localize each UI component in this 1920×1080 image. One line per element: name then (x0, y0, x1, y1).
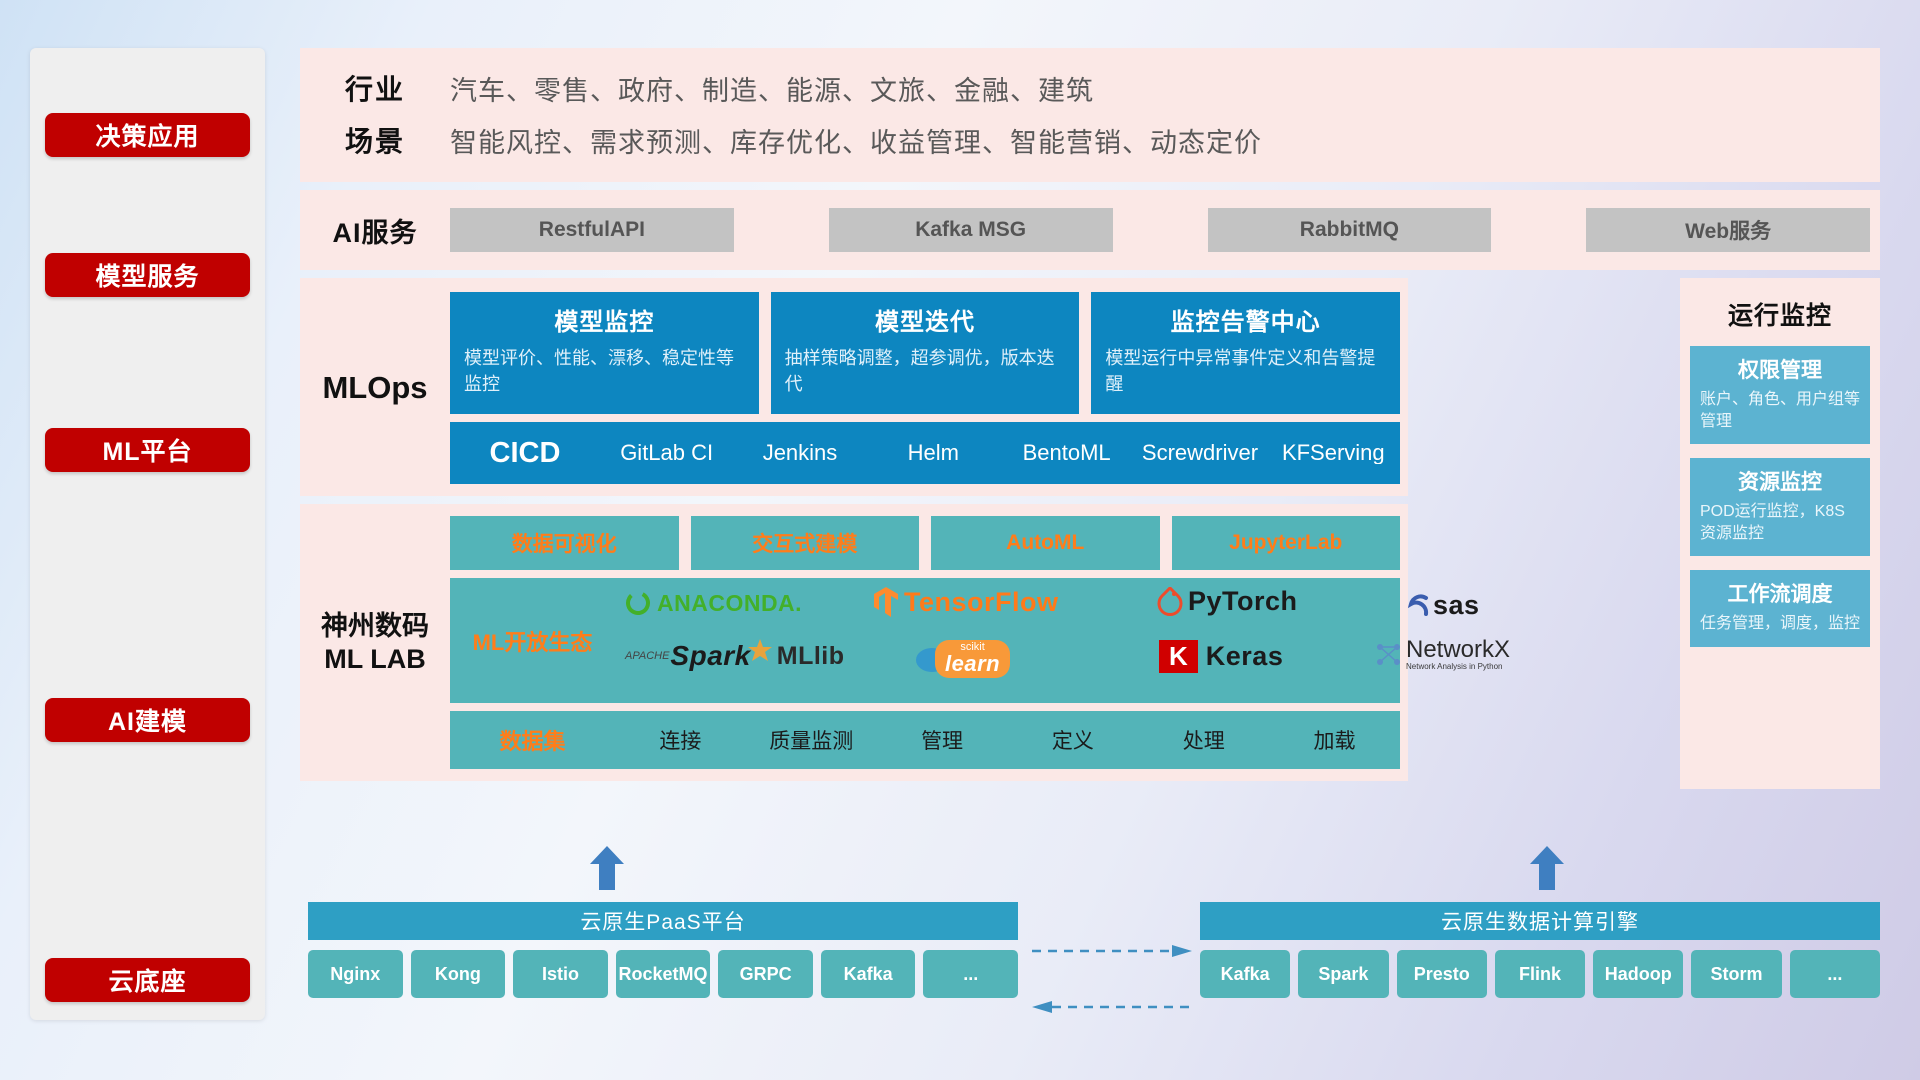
cicd-item-screwdriver[interactable]: Screwdriver (1133, 442, 1266, 464)
mlops-card-model-monitoring[interactable]: 模型监控 模型评价、性能、漂移、稳定性等监控 (450, 292, 759, 414)
dataset-item-connect[interactable]: 连接 (615, 725, 746, 755)
engine-chip-kafka[interactable]: Kafka (1200, 950, 1290, 998)
rail-item-label: ML平台 (102, 432, 192, 468)
monitor-card-permission[interactable]: 权限管理 账户、角色、用户组等管理 (1690, 346, 1870, 444)
cicd-title: CICD (450, 437, 600, 470)
industry-label: 行业 (300, 68, 450, 108)
cloud-chip-nginx[interactable]: Nginx (308, 950, 403, 998)
cicd-item-bentoml[interactable]: BentoML (1000, 442, 1133, 464)
ml-lab-label-line2: ML LAB (324, 643, 426, 675)
ml-lab-tab-list: 数据可视化 交互式建模 AutoML JupyterLab (450, 516, 1400, 570)
sas-logo: sas (1405, 590, 1480, 621)
scikit-learn-logo: scikit learn (915, 640, 1010, 678)
ai-service-chip-list: RestfulAPI Kafka MSG RabbitMQ Web服务 (450, 208, 1880, 252)
mlops-card-list: 模型监控 模型评价、性能、漂移、稳定性等监控 模型迭代 抽样策略调整，超参调优，… (450, 292, 1400, 414)
rail-item-ml-platform[interactable]: ML平台 (45, 428, 250, 472)
cloud-data-engine-title: 云原生数据计算引擎 (1200, 902, 1880, 940)
paas-to-engine-arrow-icon (1032, 944, 1192, 958)
scenario-row: 场景 智能风控、需求预测、库存优化、收益管理、智能营销、动态定价 (300, 114, 1880, 166)
ai-service-chip-web[interactable]: Web服务 (1586, 208, 1870, 252)
pytorch-logo: PyTorch (1157, 586, 1298, 617)
ml-lab-label: 神州数码 ML LAB (300, 516, 450, 769)
ml-lab-content: 数据可视化 交互式建模 AutoML JupyterLab ML开放生态 (450, 516, 1408, 769)
keras-logo: K Keras (1159, 640, 1283, 673)
tensorflow-logo-text: TensorFlow (904, 587, 1059, 618)
engine-chip-more[interactable]: ... (1790, 950, 1880, 998)
cloud-chip-grpc[interactable]: GRPC (718, 950, 813, 998)
card-title: 工作流调度 (1700, 578, 1860, 608)
networkx-graph-icon (1375, 641, 1403, 669)
card-desc: 模型评价、性能、漂移、稳定性等监控 (464, 345, 745, 397)
scikit-learn-badge: scikit learn (935, 640, 1010, 678)
dataset-item-define[interactable]: 定义 (1007, 725, 1138, 755)
cicd-item-jenkins[interactable]: Jenkins (733, 442, 866, 464)
spark-apache-tag: APACHE (625, 650, 669, 662)
cloud-chip-kafka[interactable]: Kafka (821, 950, 916, 998)
tab-jupyterlab[interactable]: JupyterLab (1172, 516, 1401, 570)
card-desc: POD运行监控，K8S资源监控 (1700, 501, 1860, 544)
scenario-label: 场景 (300, 120, 450, 160)
ai-service-chip-rabbitmq[interactable]: RabbitMQ (1208, 208, 1492, 252)
sas-swirl-icon (1405, 593, 1431, 619)
card-desc: 抽样策略调整，超参调优，版本迭代 (785, 345, 1066, 397)
runtime-monitor-column: 运行监控 权限管理 账户、角色、用户组等管理 资源监控 POD运行监控，K8S资… (1680, 278, 1880, 789)
networkx-logo: NetworkX Network Analysis in Python (1375, 638, 1510, 672)
industry-row: 行业 汽车、零售、政府、制造、能源、文旅、金融、建筑 (300, 62, 1880, 114)
ml-lab-band: 神州数码 ML LAB 数据可视化 交互式建模 AutoML JupyterLa… (300, 504, 1408, 781)
ml-ecosystem-logo-list: ANACONDA. TensorFlow (615, 578, 1400, 703)
mlops-content: 模型监控 模型评价、性能、漂移、稳定性等监控 模型迭代 抽样策略调整，超参调优，… (450, 292, 1408, 484)
ml-ecosystem-label: ML开放生态 (450, 625, 615, 657)
mlops-label: MLOps (300, 292, 450, 484)
card-desc: 账户、角色、用户组等管理 (1700, 389, 1860, 432)
dataset-row: 数据集 连接 质量监测 管理 定义 处理 加载 (450, 711, 1400, 769)
engine-chip-hadoop[interactable]: Hadoop (1593, 950, 1683, 998)
cloud-data-engine-chip-list: Kafka Spark Presto Flink Hadoop Storm ..… (1200, 940, 1880, 998)
cicd-item-helm[interactable]: Helm (867, 442, 1000, 464)
ai-service-chip-restfulapi[interactable]: RestfulAPI (450, 208, 734, 252)
pytorch-flame-icon (1157, 587, 1183, 617)
card-desc: 任务管理，调度，监控 (1700, 613, 1860, 635)
cloud-chip-more[interactable]: ... (923, 950, 1018, 998)
ai-service-band: AI服务 RestfulAPI Kafka MSG RabbitMQ Web服务 (300, 190, 1880, 270)
industry-values: 汽车、零售、政府、制造、能源、文旅、金融、建筑 (450, 69, 1094, 108)
dataset-item-list: 连接 质量监测 管理 定义 处理 加载 (615, 725, 1400, 755)
sas-logo-text: sas (1433, 590, 1480, 621)
mlops-band: MLOps 模型监控 模型评价、性能、漂移、稳定性等监控 模型迭代 抽样策略调整… (300, 278, 1408, 496)
cicd-item-gitlab-ci[interactable]: GitLab CI (600, 442, 733, 464)
cloud-chip-kong[interactable]: Kong (411, 950, 506, 998)
dataset-item-load[interactable]: 加载 (1269, 725, 1400, 755)
engine-chip-flink[interactable]: Flink (1495, 950, 1585, 998)
engine-chip-spark[interactable]: Spark (1298, 950, 1388, 998)
engine-chip-presto[interactable]: Presto (1397, 950, 1487, 998)
cloud-chip-rocketmq[interactable]: RocketMQ (616, 950, 711, 998)
cicd-item-list: GitLab CI Jenkins Helm BentoML Screwdriv… (600, 442, 1400, 464)
ml-lab-label-line1: 神州数码 (321, 610, 429, 642)
cloud-paas-chip-list: Nginx Kong Istio RocketMQ GRPC Kafka ... (308, 940, 1018, 998)
cicd-bar: CICD GitLab CI Jenkins Helm BentoML Scre… (450, 422, 1400, 484)
keras-logo-text: Keras (1206, 641, 1284, 672)
tensorflow-logo: TensorFlow (873, 586, 1059, 618)
industry-scenario-band: 行业 汽车、零售、政府、制造、能源、文旅、金融、建筑 场景 智能风控、需求预测、… (300, 48, 1880, 182)
rail-item-label: 云底座 (108, 962, 186, 998)
engine-to-paas-arrow-icon (1032, 1000, 1192, 1014)
dataset-item-manage[interactable]: 管理 (877, 725, 1008, 755)
pytorch-logo-text: PyTorch (1188, 586, 1298, 617)
monitor-card-workflow[interactable]: 工作流调度 任务管理，调度，监控 (1690, 570, 1870, 647)
data-engine-up-arrow-icon (1530, 846, 1564, 890)
rail-item-decision-app[interactable]: 决策应用 (45, 113, 250, 157)
card-title: 权限管理 (1700, 354, 1860, 384)
card-title: 模型迭代 (785, 302, 1066, 337)
anaconda-logo: ANACONDA. (623, 588, 802, 618)
cloud-chip-istio[interactable]: Istio (513, 950, 608, 998)
keras-mark-icon: K (1159, 640, 1198, 673)
rail-item-model-service[interactable]: 模型服务 (45, 253, 250, 297)
cicd-item-kfserving[interactable]: KFServing (1267, 442, 1400, 464)
rail-item-label: 模型服务 (95, 257, 199, 293)
card-title: 监控告警中心 (1105, 302, 1386, 337)
ml-ecosystem-row: ML开放生态 ANACONDA. (450, 578, 1400, 703)
monitor-card-resource[interactable]: 资源监控 POD运行监控，K8S资源监控 (1690, 458, 1870, 556)
ai-service-label: AI服务 (300, 211, 450, 250)
cloud-native-data-engine-group: 云原生数据计算引擎 Kafka Spark Presto Flink Hadoo… (1200, 902, 1880, 998)
anaconda-logo-text: ANACONDA. (657, 590, 802, 617)
scenario-values: 智能风控、需求预测、库存优化、收益管理、智能营销、动态定价 (450, 121, 1262, 160)
networkx-text-block: NetworkX Network Analysis in Python (1406, 638, 1510, 672)
paas-up-arrow-icon (590, 846, 624, 890)
ai-service-chip-kafka-msg[interactable]: Kafka MSG (829, 208, 1113, 252)
mllib-logo-text: MLlib (777, 642, 845, 671)
tensorflow-mark-icon (873, 586, 899, 618)
spark-mllib-logo: APACHE Spark MLlib (625, 640, 845, 672)
tab-automl[interactable]: AutoML (931, 516, 1160, 570)
anaconda-ring-icon (623, 588, 653, 618)
rail-item-cloud-base[interactable]: 云底座 (45, 958, 250, 1002)
cloud-base-region: 云原生PaaS平台 Nginx Kong Istio RocketMQ GRPC… (300, 880, 1880, 1055)
rail-item-label: AI建模 (108, 702, 187, 738)
tab-interactive-modeling[interactable]: 交互式建模 (691, 516, 920, 570)
mlops-card-model-iteration[interactable]: 模型迭代 抽样策略调整，超参调优，版本迭代 (771, 292, 1080, 414)
runtime-monitor-title: 运行监控 (1690, 296, 1870, 332)
card-desc: 模型运行中异常事件定义和告警提醒 (1105, 345, 1386, 397)
tab-data-visualization[interactable]: 数据可视化 (450, 516, 679, 570)
rail-item-ai-modeling[interactable]: AI建模 (45, 698, 250, 742)
dataset-item-quality[interactable]: 质量监测 (746, 725, 877, 755)
rail-item-label: 决策应用 (95, 117, 199, 153)
scikit-learn-text: learn (945, 653, 1000, 675)
dataset-item-process[interactable]: 处理 (1138, 725, 1269, 755)
spark-star-icon (747, 638, 773, 664)
networkx-logo-text: NetworkX (1406, 638, 1510, 662)
architecture-main-column: 行业 汽车、零售、政府、制造、能源、文旅、金融、建筑 场景 智能风控、需求预测、… (300, 48, 1880, 797)
networkx-tagline: Network Analysis in Python (1406, 662, 1510, 672)
cloud-native-paas-group: 云原生PaaS平台 Nginx Kong Istio RocketMQ GRPC… (308, 902, 1018, 998)
layer-rail: 决策应用 模型服务 ML平台 AI建模 云底座 (30, 48, 265, 1020)
dataset-label: 数据集 (450, 724, 615, 756)
card-title: 模型监控 (464, 302, 745, 337)
mlops-card-alert-center[interactable]: 监控告警中心 模型运行中异常事件定义和告警提醒 (1091, 292, 1400, 414)
spark-logo-text: Spark (670, 640, 750, 672)
engine-chip-storm[interactable]: Storm (1691, 950, 1781, 998)
card-title: 资源监控 (1700, 466, 1860, 496)
cloud-paas-title: 云原生PaaS平台 (308, 902, 1018, 940)
platform-region: MLOps 模型监控 模型评价、性能、漂移、稳定性等监控 模型迭代 抽样策略调整… (300, 278, 1880, 789)
